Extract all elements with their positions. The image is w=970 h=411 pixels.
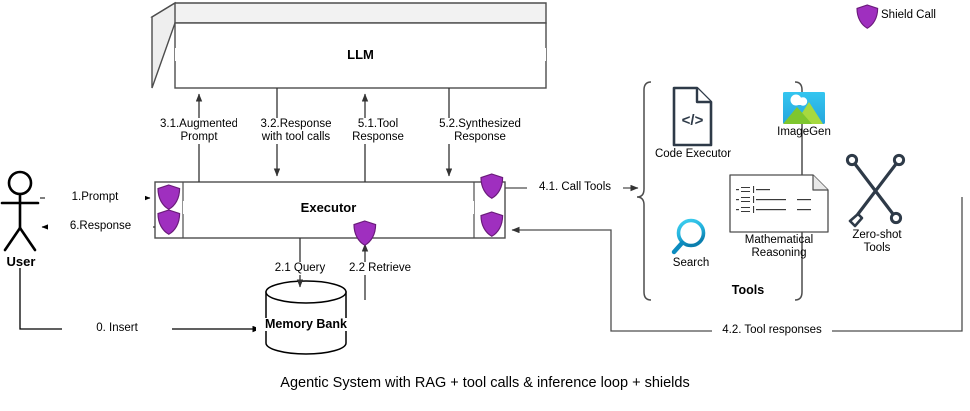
code-document-icon[interactable]: </> (674, 88, 711, 145)
diagram-caption: Agentic System with RAG + tool calls & i… (0, 377, 970, 390)
tool-screwdriver-head-a (894, 155, 903, 164)
user-leg-right (20, 228, 35, 250)
edge-label-prompt: 1.Prompt (45, 191, 145, 204)
edge-label-synthesized-response: 5.2.Synthesized Response (425, 118, 535, 144)
magnifier-icon[interactable] (674, 221, 704, 253)
llm-label: LLM (175, 48, 546, 61)
edge-label-tool-responses: 4.2. Tool responses (712, 324, 832, 337)
memory-bank-label: Memory Bank (256, 318, 356, 331)
tool-screwdriver-tip (850, 214, 862, 226)
tool-screwdriver-shaft (858, 164, 896, 214)
tools-brace-left (637, 82, 651, 300)
shield-icon-legend (857, 5, 878, 28)
tool-label-code-executor: Code Executor (645, 148, 741, 161)
edge-label-retrieve: 2.2 Retrieve (332, 262, 428, 275)
tool-label-search: Search (658, 257, 724, 270)
magnifier-handle (674, 243, 682, 252)
executor-label: Executor (183, 201, 474, 214)
math-doc-fold (813, 175, 828, 190)
tool-label-zero-shot-tools: Zero-shot Tools (840, 229, 914, 255)
image-picture-icon[interactable] (783, 92, 825, 124)
edge-label-query: 2.1 Query (258, 262, 342, 275)
tool-wrench-head-a (847, 155, 856, 164)
crossed-wrench-screwdriver-icon[interactable] (847, 155, 903, 226)
code-doc-glyph: </> (682, 112, 704, 129)
edge-label-insert: 0. Insert (62, 322, 172, 335)
tool-wrench-head-b (891, 213, 900, 222)
edge-label-response: 6.Response (48, 220, 153, 233)
math-document-icon[interactable] (730, 175, 828, 232)
user-node[interactable] (2, 172, 38, 250)
user-leg-left (5, 228, 20, 250)
llm-top-face (152, 3, 546, 23)
tools-group-label: Tools (703, 284, 793, 297)
llm-left-face (152, 3, 175, 88)
tool-label-imagegen: ImageGen (768, 126, 840, 139)
user-head (9, 172, 31, 194)
insert-edge (20, 262, 260, 329)
imagegen-cloud-base (792, 100, 805, 105)
edge-label-tool-response: 5.1.Tool Response (332, 118, 424, 144)
edge-insert-line (20, 262, 260, 329)
memory-bank-top (266, 281, 346, 303)
shield-icon-executor-bottom-center[interactable] (354, 221, 376, 245)
diagram-canvas: </> (0, 0, 970, 411)
legend-label: Shield Call (881, 9, 961, 22)
llm-node[interactable] (152, 3, 546, 88)
tool-wrench-shaft (855, 164, 893, 214)
edge-label-call-tools: 4.1. Call Tools (527, 181, 623, 194)
tool-label-mathematical-reasoning: Mathematical Reasoning (729, 234, 829, 260)
user-label: User (0, 255, 42, 268)
